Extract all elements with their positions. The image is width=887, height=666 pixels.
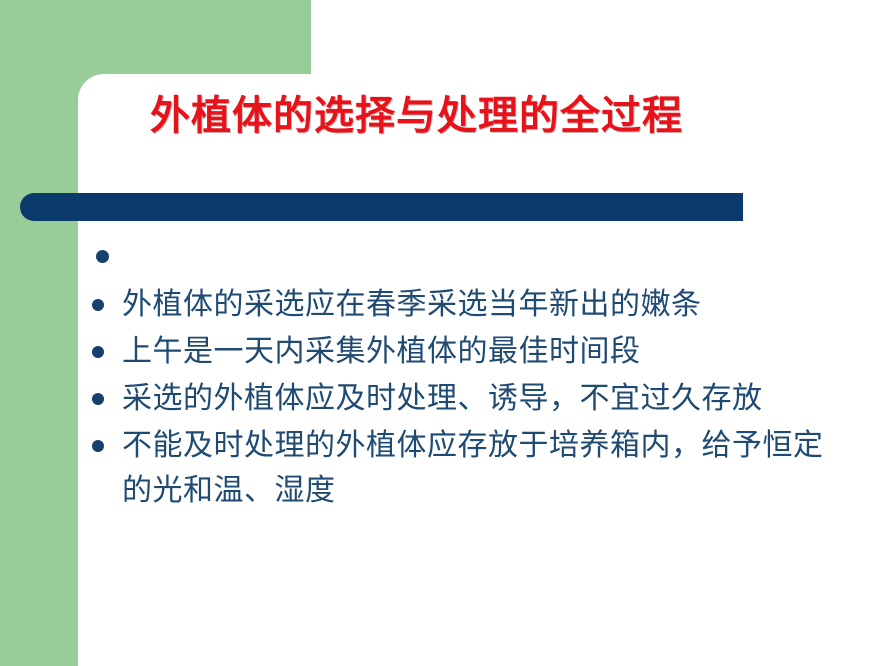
bullet-dot-icon: [92, 393, 104, 405]
list-item-label: 外植体的采选应在春季采选当年新出的嫩条: [122, 282, 848, 327]
bullet-dot-icon: [92, 440, 104, 452]
list-item: 采选的外植体应及时处理、诱导，不宜过久存放: [88, 376, 848, 421]
list-item: [88, 238, 848, 278]
list-item: 不能及时处理的外植体应存放于培养箱内，给予恒定的光和温、湿度: [88, 423, 848, 513]
slide-canvas: 外植体的选择与处理的全过程 外植体的采选应在春季采选当年新出的嫩条 上午是一天内…: [0, 0, 887, 666]
list-item-label: 采选的外植体应及时处理、诱导，不宜过久存放: [122, 376, 848, 421]
bullet-dot-icon: [96, 250, 109, 263]
bullet-dot-icon: [92, 299, 104, 311]
list-item-label: 不能及时处理的外植体应存放于培养箱内，给予恒定的光和温、湿度: [122, 423, 848, 513]
list-item: 上午是一天内采集外植体的最佳时间段: [88, 329, 848, 374]
green-side-strip: [0, 0, 78, 666]
slide-title: 外植体的选择与处理的全过程: [150, 88, 850, 144]
bullet-dot-icon: [92, 346, 104, 358]
list-item: 外植体的采选应在春季采选当年新出的嫩条: [88, 282, 848, 327]
list-item-label: 上午是一天内采集外植体的最佳时间段: [122, 329, 848, 374]
title-underline-bar: [20, 193, 743, 221]
bullet-list: 外植体的采选应在春季采选当年新出的嫩条 上午是一天内采集外植体的最佳时间段 采选…: [88, 238, 848, 515]
